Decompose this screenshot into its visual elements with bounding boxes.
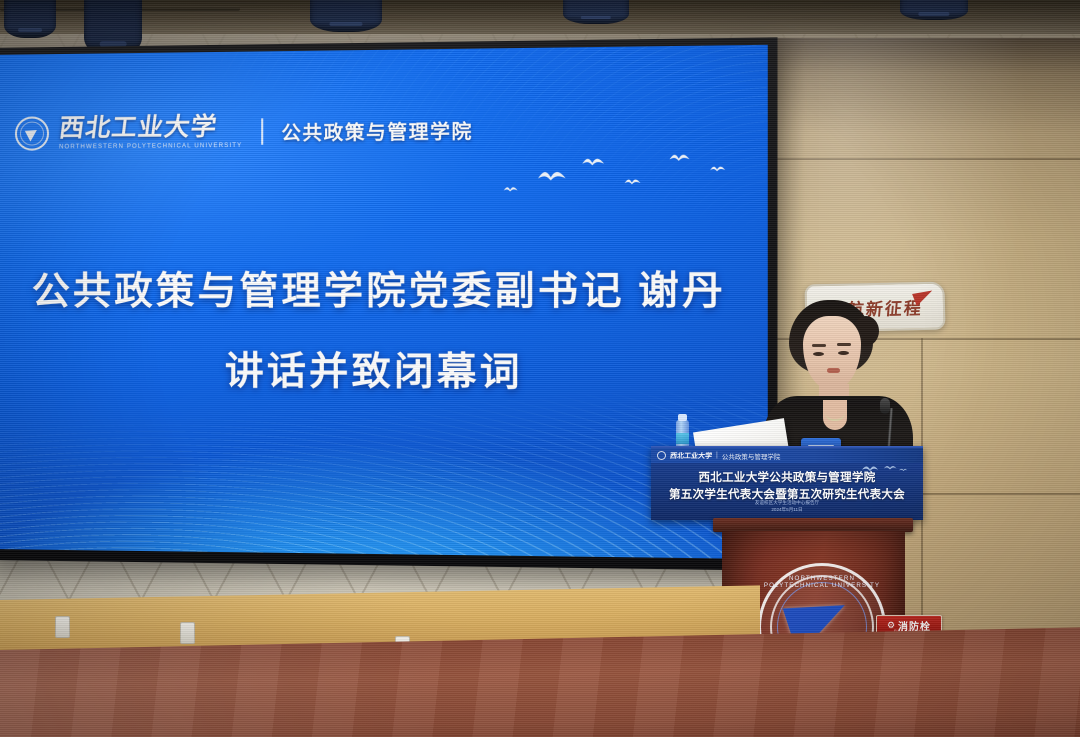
conference-hall-scene: 西北工业大学 NORTHWESTERN POLYTECHNICAL UNIVER… xyxy=(0,0,1080,737)
stage-light-icon xyxy=(310,0,382,32)
emblem-english-text: NORTHWESTERN POLYTECHNICAL UNIVERSITY xyxy=(761,575,883,589)
stage-light-icon xyxy=(563,0,629,24)
slide-header-lockup: 西北工业大学 NORTHWESTERN POLYTECHNICAL UNIVER… xyxy=(15,112,473,151)
flying-birds-icon xyxy=(624,173,641,192)
banner-university-cn: 西北工业大学 xyxy=(669,451,712,461)
podium-top-surface xyxy=(713,518,913,532)
banner-college-cn: 公共政策与管理学院 xyxy=(722,451,781,461)
npu-seal-icon xyxy=(15,116,49,150)
flying-birds-icon xyxy=(710,160,726,179)
stage-light-icon xyxy=(900,0,968,20)
banner-title-line-1: 西北工业大学公共政策与管理学院 xyxy=(651,470,923,487)
slide-text-block: 公共政策与管理学院党委副书记 谢丹 讲话并致闭幕词 xyxy=(0,258,768,397)
banner-title: 西北工业大学公共政策与管理学院 第五次学生代表大会暨第五次研究生代表大会 xyxy=(651,470,923,503)
power-outlet-icon xyxy=(180,622,195,644)
power-outlet-icon xyxy=(55,616,70,638)
slide-line-2: 讲话并致闭幕词 xyxy=(0,339,768,398)
university-name-block: 西北工业大学 NORTHWESTERN POLYTECHNICAL UNIVER… xyxy=(59,114,242,150)
banner-subtitle: 友谊校区大学生活动中心报告厅 2024年5月11日 xyxy=(651,500,923,514)
header-divider xyxy=(261,118,263,144)
college-name-cn: 公共政策与管理学院 xyxy=(281,116,473,145)
banner-header-lockup: 西北工业大学 | 公共政策与管理学院 xyxy=(651,448,923,463)
podium-banner: 西北工业大学 | 公共政策与管理学院 西北工业大学公共政策与管理学院 第五次学生… xyxy=(651,446,923,520)
flying-birds-icon xyxy=(581,154,604,173)
stage-light-icon xyxy=(4,0,56,38)
microphone-head-icon xyxy=(880,398,890,414)
slide-line-1: 公共政策与管理学院党委副书记 谢丹 xyxy=(0,258,768,315)
university-name-cn: 西北工业大学 xyxy=(58,114,244,141)
banner-subtitle-line-2: 2024年5月11日 xyxy=(651,507,923,514)
university-name-en: NORTHWESTERN POLYTECHNICAL UNIVERSITY xyxy=(59,143,242,151)
flying-birds-icon xyxy=(669,149,690,168)
npu-seal-icon xyxy=(657,451,666,460)
flying-birds-icon xyxy=(503,180,518,199)
flying-birds-icon xyxy=(537,169,567,189)
banner-divider: | xyxy=(716,452,718,459)
